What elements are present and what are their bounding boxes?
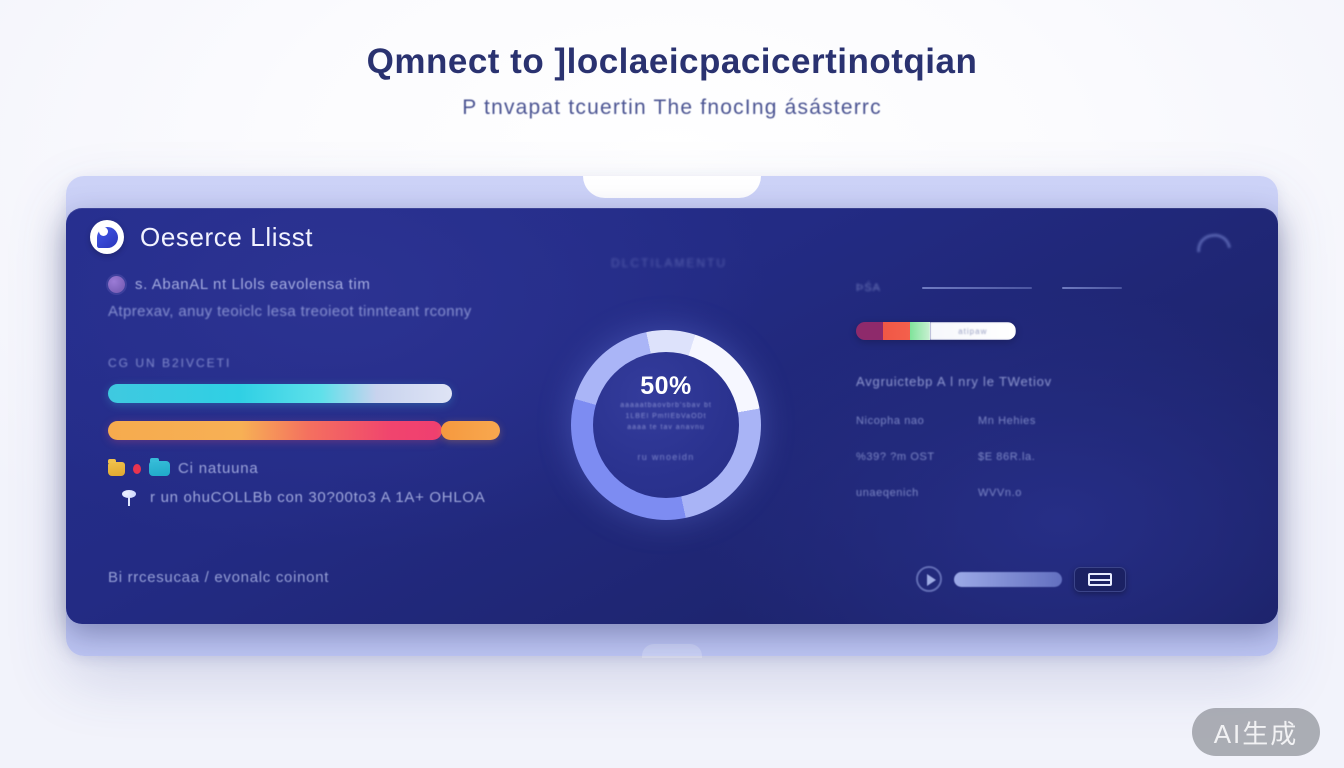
section-label: CG UN B2IVCETI [108, 356, 578, 370]
page-subtitle: P tnvapat tcuertin The fnocIng ásásterrc [0, 96, 1344, 120]
segmented-status-bar[interactable]: atipaw [856, 322, 1016, 340]
donut-sub-line-3: aaaa te tav anavnu [627, 423, 705, 434]
progress-bar-orange-group[interactable] [108, 421, 500, 440]
donut-value: 50% [640, 372, 692, 401]
avatar-play-icon[interactable] [916, 566, 942, 592]
status-line-primary: s. AbanAL nt Llols eavolensa tim [135, 276, 370, 293]
frame-notch [583, 176, 761, 198]
device-frame: Oeserce Llisst DLCTILAMENTU s. AbanAL nt… [66, 176, 1278, 656]
ghost-progress-pill[interactable] [954, 572, 1062, 587]
card-icon [1088, 573, 1112, 586]
status-line-secondary: Atprexav, anuy teoiclc lesa treoieot tin… [108, 303, 578, 320]
card-header: Oeserce Llisst [90, 220, 313, 254]
page-header: Qmnect to ]loclaeicpacicertinotqian P tn… [0, 40, 1344, 120]
donut-center: 50% aaaaatbaovbrb'sbav bt 1LBEl PmfIEbVa… [593, 352, 739, 498]
rule-line-long [922, 287, 1032, 289]
purple-status-dot [108, 276, 125, 293]
key-value-table: Nicopha nao Mn Hehies %39? ?m OST $E 86R… [856, 415, 1256, 499]
cyan-folder-icon [149, 461, 170, 476]
app-logo-icon [90, 220, 124, 254]
gold-folder-icon [108, 462, 125, 476]
row-value: $E 86R.la. [978, 451, 1035, 463]
row-key: %39? ?m OST [856, 451, 978, 463]
footer-note: Bi rrcesucaa / evonalc coinont [108, 569, 329, 586]
rule-line-short [1062, 287, 1122, 289]
segment-red [883, 322, 910, 340]
progress-bar-orange-tail[interactable] [441, 421, 500, 440]
row-key: unaeqenich [856, 487, 978, 499]
right-tiny-label: ÞŚA [856, 282, 908, 294]
mini-icon-row[interactable]: Ci natuuna [108, 460, 578, 477]
row-value: WVVn.o [978, 487, 1022, 499]
arc-swoosh-icon [1195, 232, 1231, 253]
sprout-icon [122, 490, 136, 506]
table-row: Nicopha nao Mn Hehies [856, 415, 1256, 427]
mini-icon-label: Ci natuuna [178, 460, 259, 477]
progress-bar-orange-pink[interactable] [108, 421, 442, 440]
dashboard-card: Oeserce Llisst DLCTILAMENTU s. AbanAL nt… [66, 208, 1278, 624]
red-marker-icon [133, 464, 141, 474]
status-line-row: s. AbanAL nt Llols eavolensa tim [108, 276, 578, 293]
right-column: ÞŚA atipaw Avgruictebp A l nry le TWetio… [856, 278, 1256, 523]
row-value: Mn Hehies [978, 415, 1036, 427]
segment-green [910, 322, 929, 340]
segment-magenta [856, 322, 883, 340]
donut-sub-line-2: 1LBEl PmfIEbVaODt [625, 412, 706, 423]
plant-label: r un ohuCOLLBb con 30?00to3 A 1A+ OHLOA [150, 489, 485, 506]
card-action-button[interactable] [1074, 567, 1126, 592]
page-title: Qmnect to ]loclaeicpacicertinotqian [0, 40, 1344, 84]
frame-home-indicator [642, 644, 702, 658]
segmented-bar-label: atipaw [930, 322, 1016, 340]
table-row: %39? ?m OST $E 86R.la. [856, 451, 1256, 463]
donut-sub-line-1: aaaaatbaovbrb'sbav bt [620, 401, 712, 412]
right-heading: Avgruictebp A l nry le TWetiov [856, 374, 1256, 389]
card-title: Oeserce Llisst [140, 222, 313, 253]
header-ghost-label: DLCTILAMENTU [611, 256, 727, 270]
table-row: unaeqenich WVVn.o [856, 487, 1256, 499]
donut-chart: 50% aaaaatbaovbrb'sbav bt 1LBEl PmfIEbVa… [571, 330, 761, 520]
donut-caption: ru wnoeidn [637, 452, 694, 462]
card-footer-controls [916, 566, 1126, 592]
left-column: s. AbanAL nt Llols eavolensa tim Atprexa… [108, 276, 578, 506]
right-top-row: ÞŚA [856, 278, 1256, 298]
row-key: Nicopha nao [856, 415, 978, 427]
ai-watermark-badge: AI生成 [1192, 708, 1320, 756]
plant-row: r un ohuCOLLBb con 30?00to3 A 1A+ OHLOA [108, 489, 578, 506]
progress-bar-cyan[interactable] [108, 384, 452, 403]
